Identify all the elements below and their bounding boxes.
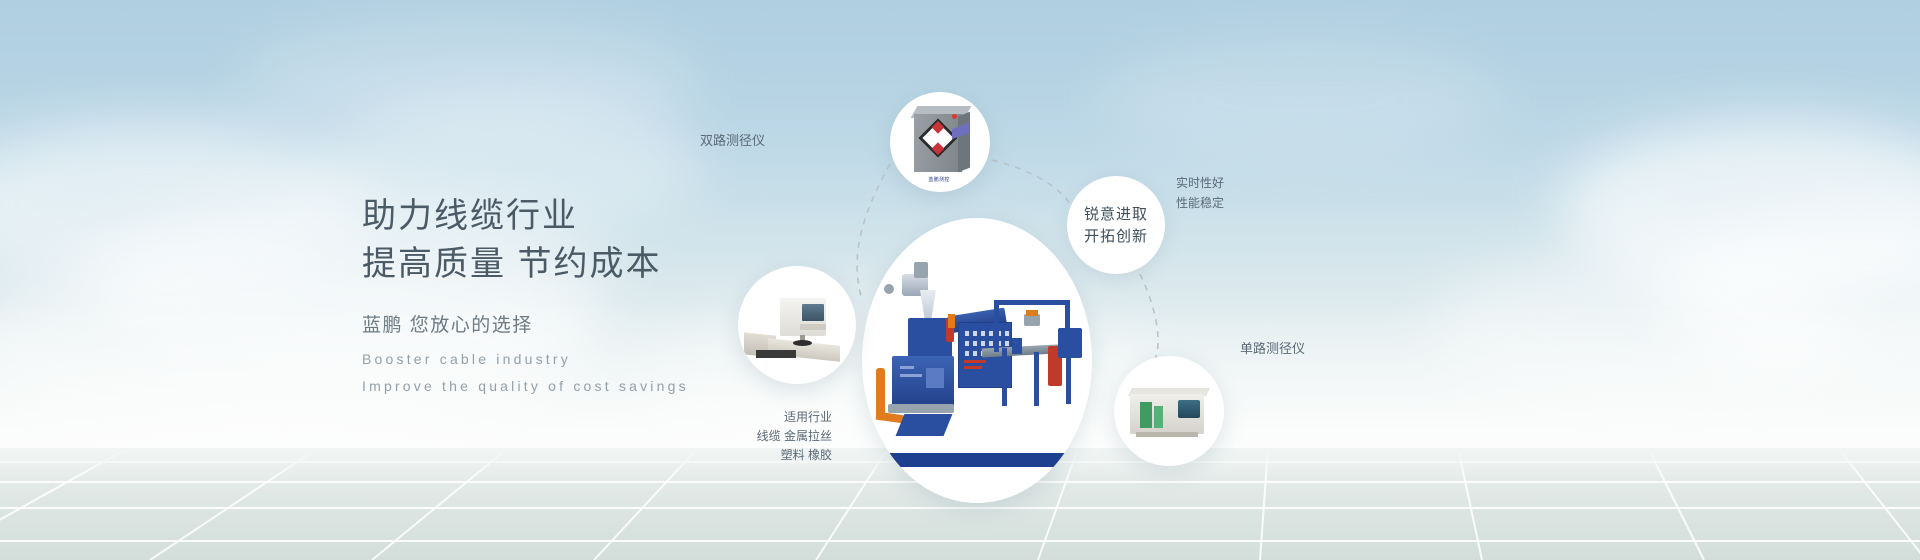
callout-dual-gauge: 双路测径仪 bbox=[700, 130, 765, 149]
slogan-line-1: 锐意进取 bbox=[1084, 205, 1148, 224]
machine-part bbox=[884, 284, 894, 294]
device-base bbox=[793, 340, 812, 346]
device-display bbox=[1178, 400, 1200, 418]
machine-base-plate bbox=[881, 453, 1074, 467]
callout-single-gauge: 单路测径仪 bbox=[1240, 338, 1305, 357]
feature-line-1: 实时性好 bbox=[1176, 173, 1224, 193]
device-base bbox=[1136, 432, 1198, 437]
industries-line-1: 线缆 金属拉丝 bbox=[732, 427, 832, 446]
device-module bbox=[1140, 402, 1152, 428]
machine-cabinet bbox=[892, 356, 954, 408]
industries-title: 适用行业 bbox=[732, 408, 832, 427]
machine-part bbox=[948, 314, 955, 328]
feature-list: 实时性好 性能稳定 bbox=[1176, 173, 1224, 213]
bubble-slogan: 锐意进取 开拓创新 bbox=[1067, 176, 1165, 274]
slogan-text: 锐意进取 开拓创新 bbox=[1067, 176, 1165, 274]
machine-part bbox=[964, 360, 986, 363]
industries-line-2: 塑料 橡胶 bbox=[732, 446, 832, 465]
control-console-illustration bbox=[738, 266, 856, 384]
machine-part bbox=[1012, 338, 1022, 354]
machine-part bbox=[1002, 348, 1007, 406]
banner-stage: 助力线缆行业 提高质量 节约成本 蓝鹏 您放心的选择 Booster cable… bbox=[0, 0, 1920, 560]
bubble-single-gauge[interactable] bbox=[1114, 356, 1224, 466]
machine-part bbox=[888, 404, 954, 413]
dual-gauge-illustration: 蓝鹏测控 bbox=[890, 92, 990, 192]
single-gauge-illustration bbox=[1114, 356, 1224, 466]
machine-part bbox=[1058, 328, 1082, 358]
extrusion-line-illustration bbox=[862, 218, 1092, 503]
device-buttons bbox=[800, 324, 826, 330]
product-bubble-cluster: 蓝鹏测控 bbox=[710, 68, 1330, 538]
device-module bbox=[1154, 406, 1163, 428]
machine-part bbox=[1026, 310, 1038, 316]
feature-line-2: 性能稳定 bbox=[1176, 193, 1224, 213]
machine-part bbox=[896, 414, 953, 436]
slogan-line-2: 开拓创新 bbox=[1084, 227, 1148, 246]
bubble-dual-gauge[interactable]: 蓝鹏测控 bbox=[890, 92, 990, 192]
device-brand-mark: 蓝鹏测控 bbox=[916, 176, 962, 183]
machine-part bbox=[1034, 352, 1039, 406]
machine-part bbox=[914, 262, 928, 278]
bubble-control-console[interactable] bbox=[738, 266, 856, 384]
device-display bbox=[802, 304, 824, 321]
indicator-led bbox=[952, 114, 957, 119]
machine-part bbox=[964, 366, 982, 369]
bubble-extrusion-line[interactable] bbox=[862, 218, 1092, 503]
device-side-face bbox=[958, 112, 970, 173]
callout-industries: 适用行业 线缆 金属拉丝 塑料 橡胶 bbox=[732, 408, 832, 465]
device-shadow-band bbox=[756, 350, 796, 358]
